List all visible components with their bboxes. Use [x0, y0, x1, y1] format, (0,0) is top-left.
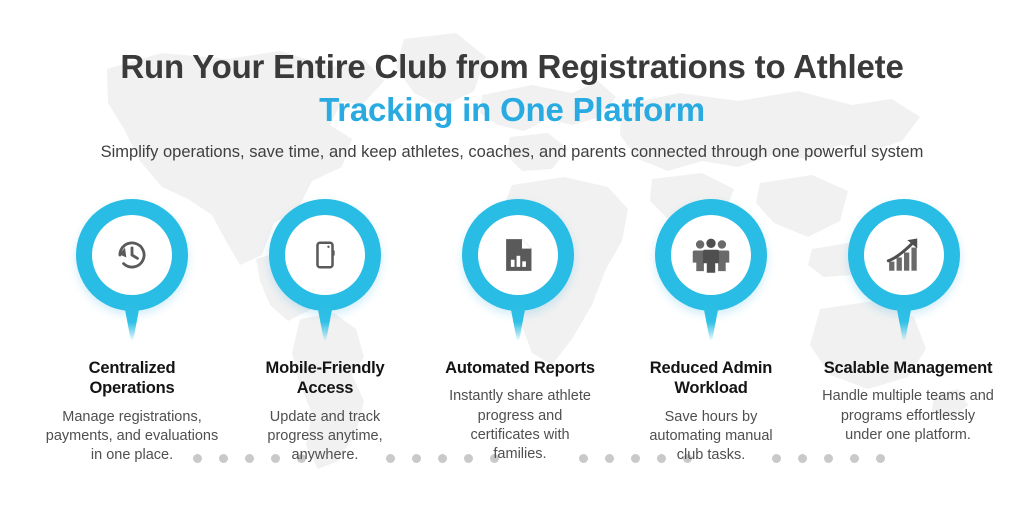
feature-title: Mobile-Friendly Access [232, 358, 418, 399]
feature-title-line-1: Mobile-Friendly [266, 359, 385, 377]
feature-title-line-2: Workload [674, 379, 747, 397]
feature-body-line: under one platform. [845, 427, 971, 443]
feature-title: Automated Reports [424, 358, 616, 378]
feature-body-line: progress anytime, [267, 428, 382, 444]
feature-body: Manage registrations, payments, and eval… [22, 408, 242, 466]
feature-body-line: families. [493, 446, 546, 462]
infographic-canvas: Run Your Entire Club from Registrations … [0, 0, 1024, 509]
feature-caption-centralized-operations: Centralized Operations Manage registrati… [22, 358, 242, 465]
feature-body-line: Save hours by [665, 409, 758, 425]
pin-tail [702, 299, 720, 341]
header-block: Run Your Entire Club from Registrations … [0, 0, 1024, 162]
pin-tail [509, 299, 527, 341]
feature-body-line: Manage registrations, [62, 409, 201, 425]
feature-body-line: programs effortlessly [841, 408, 975, 424]
headline-line-1: Run Your Entire Club from Registrations … [120, 48, 903, 85]
feature-body-line: payments, and evaluations [46, 428, 219, 444]
feature-body-line: certificates with [470, 427, 569, 443]
feature-body-line: automating manual [649, 428, 772, 444]
feature-body: Handle multiple teams and programs effor… [802, 387, 1014, 445]
feature-caption-scalable-management: Scalable Management Handle multiple team… [802, 358, 1014, 445]
feature-title-line-2: Operations [89, 379, 174, 397]
feature-body-line: anywhere. [292, 447, 359, 463]
feature-title-line-2: Access [297, 379, 354, 397]
feature-caption-mobile-friendly-access: Mobile-Friendly Access Update and track … [232, 358, 418, 465]
page-subtitle: Simplify operations, save time, and keep… [0, 143, 1024, 162]
feature-body: Update and track progress anytime, anywh… [232, 408, 418, 466]
pin-tail [316, 299, 334, 341]
feature-title-line-1: Scalable Management [824, 359, 993, 377]
feature-caption-automated-reports: Automated Reports Instantly share athlet… [424, 358, 616, 464]
feature-title: Centralized Operations [22, 358, 242, 399]
feature-title: Reduced Admin Workload [620, 358, 802, 399]
feature-body-line: Handle multiple teams and [822, 388, 994, 404]
feature-body-line: club tasks. [677, 447, 746, 463]
growth-chart-arrow-icon [881, 232, 927, 278]
feature-pin-centralized-operations[interactable] [76, 199, 188, 341]
feature-pin-row [0, 199, 1024, 344]
feature-pin-reduced-admin-workload[interactable] [655, 199, 767, 341]
history-clock-icon [109, 232, 155, 278]
feature-title-line-1: Reduced Admin [650, 359, 772, 377]
feature-body-line: in one place. [91, 447, 173, 463]
feature-body-line: progress and [478, 408, 563, 424]
document-bar-chart-icon [495, 232, 541, 278]
page-title: Run Your Entire Club from Registrations … [0, 46, 1024, 131]
pin-tail [123, 299, 141, 341]
headline-line-2: Tracking in One Platform [0, 89, 1024, 132]
feature-pin-automated-reports[interactable] [462, 199, 574, 341]
feature-captions-row: Centralized Operations Manage registrati… [0, 358, 1024, 488]
feature-caption-reduced-admin-workload: Reduced Admin Workload Save hours by aut… [620, 358, 802, 465]
feature-title-line-1: Centralized [89, 359, 176, 377]
feature-body: Instantly share athlete progress and cer… [424, 387, 616, 464]
feature-title: Scalable Management [802, 358, 1014, 378]
feature-pin-mobile-friendly-access[interactable] [269, 199, 381, 341]
pin-tail [895, 299, 913, 341]
feature-body-line: Instantly share athlete [449, 388, 591, 404]
feature-pin-scalable-management[interactable] [848, 199, 960, 341]
feature-body: Save hours by automating manual club tas… [620, 408, 802, 466]
mobile-phone-icon [302, 232, 348, 278]
feature-body-line: Update and track [270, 409, 380, 425]
people-group-icon [688, 232, 734, 278]
feature-title-line-1: Automated Reports [445, 359, 595, 377]
